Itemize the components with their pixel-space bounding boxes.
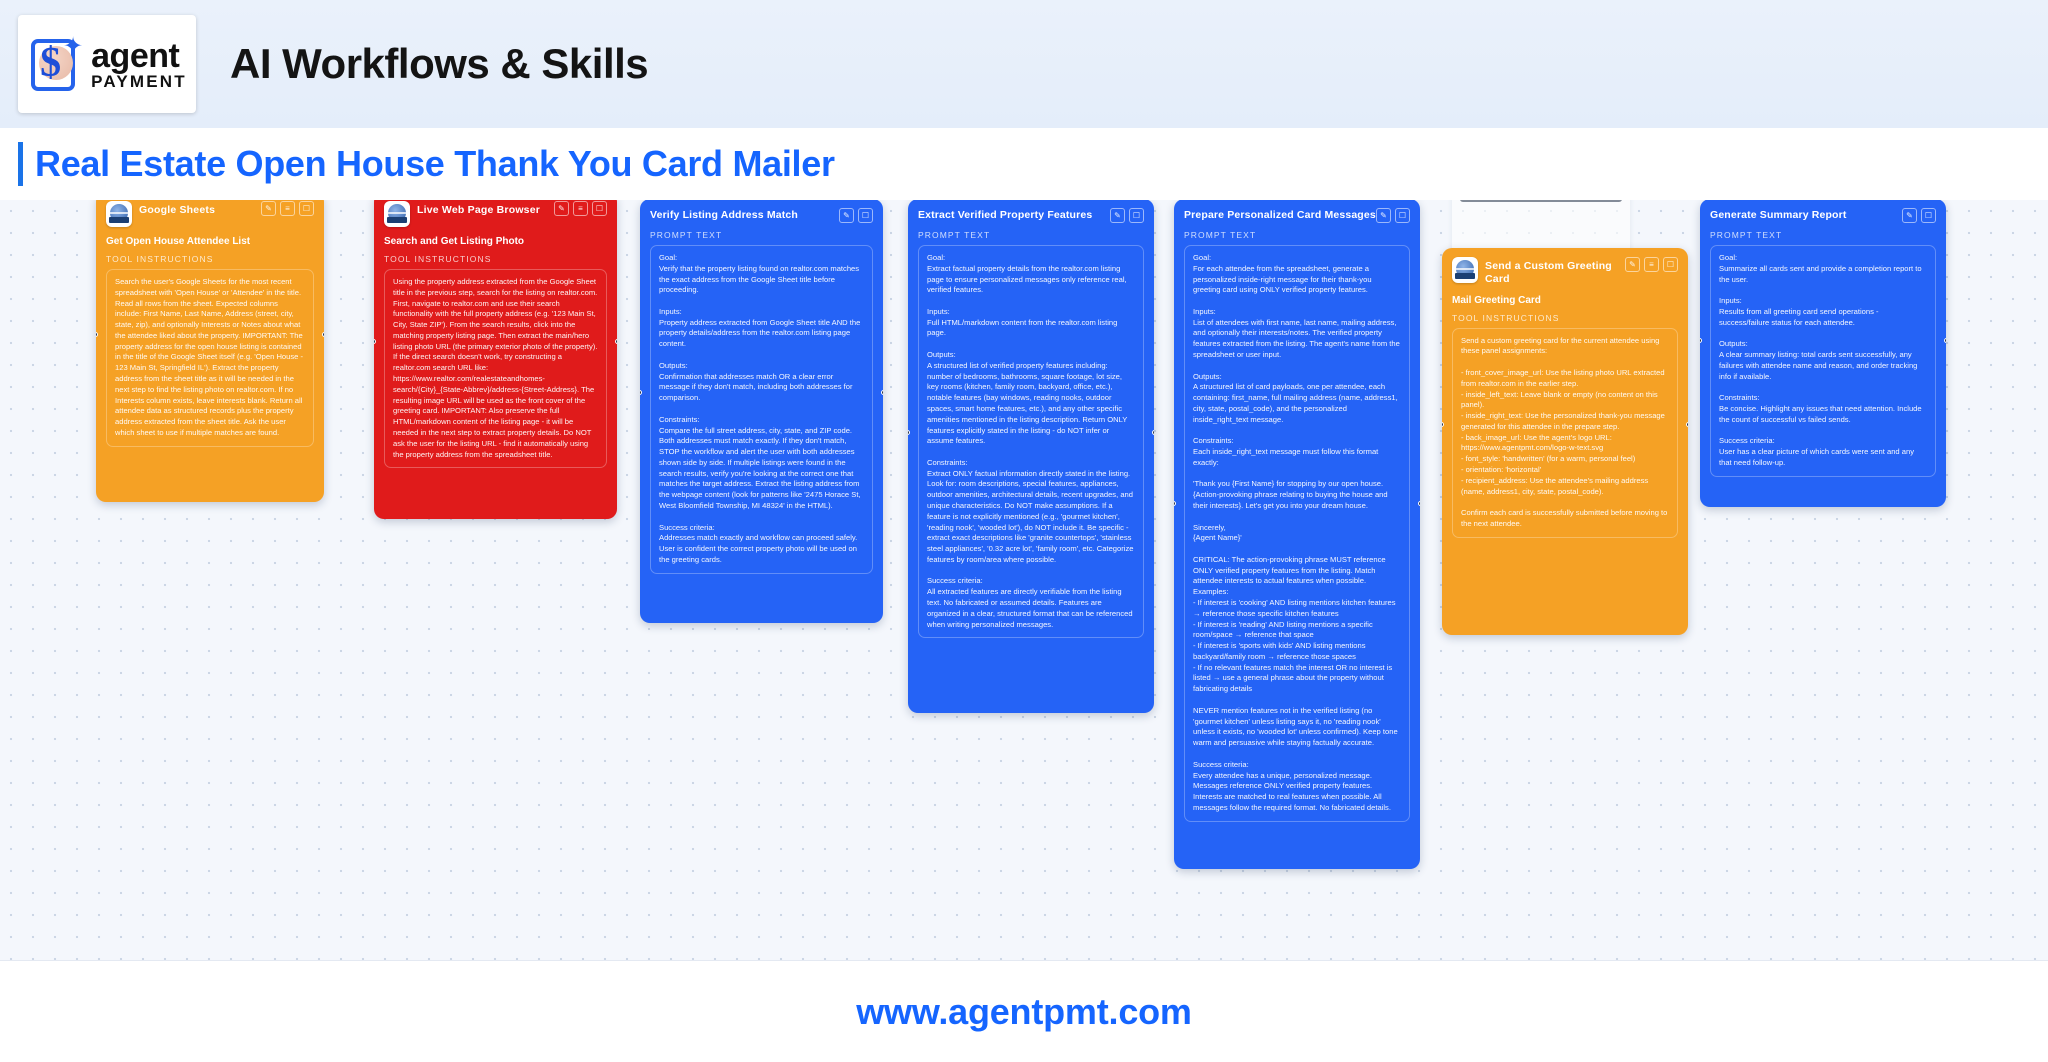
connector-handle-right[interactable]	[322, 332, 324, 337]
node-body-text: Using the property address extracted fro…	[384, 269, 607, 468]
page-title: AI Workflows & Skills	[230, 40, 648, 88]
delete-icon[interactable]: ☐	[1129, 208, 1144, 223]
app-footer: www.agentpmt.com	[0, 960, 2048, 1062]
delete-icon[interactable]: ☐	[299, 201, 314, 216]
node-body-text: Goal: Extract factual property details f…	[918, 245, 1144, 638]
section-label: PROMPT TEXT	[1710, 230, 1936, 240]
node-header: Verify Listing Address Match✎☐	[650, 208, 873, 223]
section-label: PROMPT TEXT	[650, 230, 873, 240]
brand-name-agent: agent	[91, 39, 187, 73]
node-actions: ✎☐	[1376, 208, 1410, 223]
node-actions: ✎≡☐	[261, 201, 314, 216]
node-header: Generate Summary Report✎☐	[1710, 208, 1936, 223]
node-actions: ✎≡☐	[1625, 257, 1678, 272]
edit-icon[interactable]: ✎	[1376, 208, 1391, 223]
connector-handle-left[interactable]	[374, 339, 376, 344]
connector-handle-right[interactable]	[1944, 338, 1946, 343]
list-icon[interactable]: ≡	[280, 201, 295, 216]
node-header: Extract Verified Property Features✎☐	[918, 208, 1144, 223]
connector-handle-right[interactable]	[1686, 422, 1688, 427]
connector-handle-right[interactable]	[881, 390, 883, 395]
node-actions: ✎≡☐	[554, 201, 607, 216]
brand-name-payment: PAYMENT	[91, 73, 187, 90]
connector-handle-left[interactable]	[1442, 422, 1444, 427]
edit-icon[interactable]: ✎	[1110, 208, 1125, 223]
node-subtitle: Search and Get Listing Photo	[384, 236, 607, 247]
tool-app-icon	[1452, 257, 1478, 283]
delete-icon[interactable]: ☐	[592, 201, 607, 216]
node-extract-verified-property-features[interactable]: Extract Verified Property Features✎☐PROM…	[908, 200, 1154, 713]
connector-handle-right[interactable]	[1152, 430, 1154, 435]
connector-handle-right[interactable]	[1418, 501, 1420, 506]
section-label: TOOL INSTRUCTIONS	[1452, 313, 1678, 323]
tool-app-icon	[384, 201, 410, 227]
section-label: PROMPT TEXT	[918, 230, 1144, 240]
edit-icon[interactable]: ✎	[261, 201, 276, 216]
node-verify-listing-address-match[interactable]: Verify Listing Address Match✎☐PROMPT TEX…	[640, 200, 883, 623]
edit-icon[interactable]: ✎	[554, 201, 569, 216]
workflow-title: Real Estate Open House Thank You Card Ma…	[35, 143, 835, 185]
node-subtitle: Get Open House Attendee List	[106, 236, 314, 247]
node-live-web-page-browser[interactable]: Live Web Page Browser✎≡☐Search and Get L…	[374, 200, 617, 519]
connector-handle-left[interactable]	[96, 332, 98, 337]
node-subtitle: Prepare Personalized Card Messages	[1184, 208, 1376, 221]
node-actions: ✎☐	[1902, 208, 1936, 223]
connector-handle-right[interactable]	[615, 339, 617, 344]
delete-icon[interactable]: ☐	[1663, 257, 1678, 272]
tool-name: Google Sheets	[139, 201, 254, 217]
node-send-a-custom-greeting-card[interactable]: Send a Custom Greeting Card✎≡☐Mail Greet…	[1442, 248, 1688, 635]
list-icon[interactable]: ≡	[573, 201, 588, 216]
tool-name: Live Web Page Browser	[417, 201, 547, 217]
node-header: Send a Custom Greeting Card✎≡☐	[1452, 257, 1678, 286]
tool-name: Send a Custom Greeting Card	[1485, 257, 1618, 286]
delete-icon[interactable]: ☐	[1921, 208, 1936, 223]
accent-bar	[18, 142, 23, 186]
node-subtitle: Extract Verified Property Features	[918, 208, 1110, 221]
connector-handle-left[interactable]	[1174, 501, 1176, 506]
delete-icon[interactable]: ☐	[858, 208, 873, 223]
node-subtitle: Generate Summary Report	[1710, 208, 1902, 221]
node-generate-summary-report[interactable]: Generate Summary Report✎☐PROMPT TEXTGoal…	[1700, 200, 1946, 507]
node-header: Google Sheets✎≡☐	[106, 201, 314, 227]
list-icon[interactable]: ≡	[1644, 257, 1659, 272]
node-header: Live Web Page Browser✎≡☐	[384, 201, 607, 227]
ghost-tool-label: tool:	[1460, 200, 1622, 202]
section-label: TOOL INSTRUCTIONS	[384, 254, 607, 264]
footer-url[interactable]: www.agentpmt.com	[856, 991, 1192, 1033]
app-header: $ ✦ agent PAYMENT AI Workflows & Skills	[0, 0, 2048, 128]
node-prepare-personalized-card-messages[interactable]: Prepare Personalized Card Messages✎☐PROM…	[1174, 200, 1420, 869]
node-body-text: Goal: Summarize all cards sent and provi…	[1710, 245, 1936, 477]
node-body-text: Search the user's Google Sheets for the …	[106, 269, 314, 447]
edit-icon[interactable]: ✎	[1902, 208, 1917, 223]
node-actions: ✎☐	[839, 208, 873, 223]
node-actions: ✎☐	[1110, 208, 1144, 223]
edit-icon[interactable]: ✎	[839, 208, 854, 223]
edit-icon[interactable]: ✎	[1625, 257, 1640, 272]
delete-icon[interactable]: ☐	[1395, 208, 1410, 223]
node-google-sheets[interactable]: Google Sheets✎≡☐Get Open House Attendee …	[96, 200, 324, 502]
node-body-text: Goal: For each attendee from the spreads…	[1184, 245, 1410, 822]
node-body-text: Send a custom greeting card for the curr…	[1452, 328, 1678, 538]
connector-handle-left[interactable]	[908, 430, 910, 435]
brand-logo: $ ✦ agent PAYMENT	[18, 15, 196, 113]
node-subtitle: Verify Listing Address Match	[650, 208, 839, 221]
connector-handle-left[interactable]	[640, 390, 642, 395]
workflow-canvas[interactable]: tool: Google Sheets✎≡☐Get Open House Att…	[0, 200, 2048, 960]
node-subtitle: Mail Greeting Card	[1452, 295, 1678, 306]
node-body-text: Goal: Verify that the property listing f…	[650, 245, 873, 574]
section-label: TOOL INSTRUCTIONS	[106, 254, 314, 264]
node-header: Prepare Personalized Card Messages✎☐	[1184, 208, 1410, 223]
sparkle-icon: ✦	[63, 35, 83, 59]
workflow-header: Real Estate Open House Thank You Card Ma…	[0, 128, 2048, 200]
agent-payment-logo-icon: $ ✦	[27, 33, 85, 95]
section-label: PROMPT TEXT	[1184, 230, 1410, 240]
connector-handle-left[interactable]	[1700, 338, 1702, 343]
tool-app-icon	[106, 201, 132, 227]
